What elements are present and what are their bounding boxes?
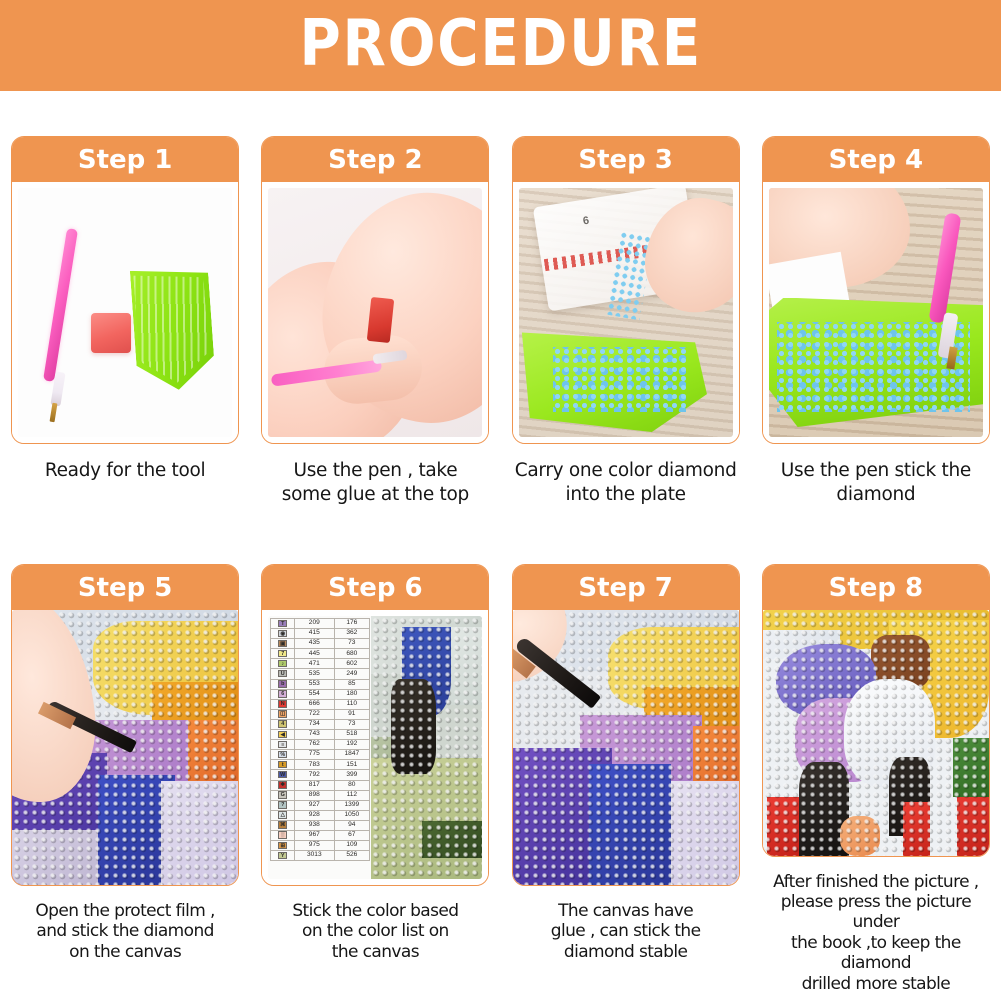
color-swatch: b	[278, 680, 287, 688]
step-2-caption: Use the pen , take some glue at the top	[257, 459, 493, 508]
step-5-photo-canvas	[12, 610, 238, 885]
color-list-row: ≡762192	[271, 740, 370, 750]
color-code-cell: 535	[295, 669, 334, 679]
wax-block-shape	[367, 296, 394, 342]
step-1-title: Step 1	[78, 147, 173, 173]
step-card-4[interactable]: Step 4	[762, 136, 990, 444]
pen-tip-icon	[49, 403, 57, 423]
step-4-header: Step 4	[763, 137, 989, 182]
color-swatch: 6	[278, 690, 287, 698]
color-code-cell: 792	[295, 770, 334, 780]
color-symbol-cell: ⊞	[271, 841, 295, 851]
color-swatch: ≡	[278, 741, 287, 749]
step-2-caption-line-2: some glue at the top	[257, 483, 493, 507]
color-list-row: ◫72291	[271, 709, 370, 719]
step-8-caption-line-1: After finished the picture ,	[758, 872, 994, 892]
color-code-cell: 209	[295, 619, 334, 629]
color-count-cell: 192	[334, 740, 370, 750]
step-3-header: Step 3	[513, 137, 739, 182]
color-count-cell: 85	[334, 679, 370, 689]
color-code-cell: 3013	[295, 851, 334, 861]
color-list-row: G898112	[271, 790, 370, 800]
step-8-title: Step 8	[829, 575, 924, 601]
color-count-cell: 91	[334, 709, 370, 719]
step-6-header: Step 6	[262, 565, 488, 610]
step-card-3[interactable]: Step 3 6	[512, 136, 740, 444]
color-swatch: ▣	[278, 640, 287, 648]
color-symbol-cell: ░	[271, 830, 295, 840]
color-count-cell: 94	[334, 820, 370, 830]
color-count-cell: 680	[334, 649, 370, 659]
color-swatch: △	[278, 811, 287, 819]
step-6-caption-line-1: Stick the color based	[257, 901, 493, 921]
color-swatch: ❖	[278, 781, 287, 789]
color-count-cell: 73	[334, 639, 370, 649]
step-6-caption-line-3: the canvas	[257, 942, 493, 962]
color-count-cell: 399	[334, 770, 370, 780]
color-count-cell: 1847	[334, 750, 370, 760]
color-code-cell: 783	[295, 760, 334, 770]
color-code-cell: 967	[295, 830, 334, 840]
step-7-title: Step 7	[578, 575, 673, 601]
color-count-cell: 67	[334, 830, 370, 840]
wax-block-icon	[91, 313, 131, 353]
step-8-body	[763, 610, 989, 856]
color-swatch: Y	[278, 852, 287, 860]
color-code-cell: 415	[295, 629, 334, 639]
color-swatch: 7	[278, 650, 287, 658]
color-code-cell: 927	[295, 800, 334, 810]
color-symbol-cell: T	[271, 619, 295, 629]
step-5-header: Step 5	[12, 565, 238, 610]
step-card-7[interactable]: Step 7	[512, 564, 740, 886]
color-list-row: 6554180	[271, 689, 370, 699]
color-swatch: t	[278, 761, 287, 769]
procedure-infographic: PROCEDURE Step 1	[0, 0, 1001, 1001]
step-6-body: T209176◉415362▣435737445680♪471602U53524…	[262, 610, 488, 885]
blue-diamonds-in-plate	[553, 347, 686, 412]
step-8-photo-finished	[763, 610, 989, 856]
step-cell-5: Step 5	[0, 564, 250, 994]
color-count-cell: 73	[334, 719, 370, 729]
color-swatch: W	[278, 771, 287, 779]
step-8-caption: After finished the picture , please pres…	[758, 872, 994, 994]
step-6-title: Step 6	[328, 575, 423, 601]
step-card-5[interactable]: Step 5	[11, 564, 239, 886]
step-3-caption: Carry one color diamond into the plate	[508, 459, 744, 508]
color-symbol-cell: ▣	[271, 639, 295, 649]
partial-canvas	[371, 616, 482, 879]
step-3-title: Step 3	[578, 147, 673, 173]
bag-number-label: 6	[582, 215, 590, 228]
step-5-caption-line-1: Open the protect film ,	[7, 901, 243, 921]
color-list-row: ?9271399	[271, 800, 370, 810]
step-7-body	[513, 610, 739, 885]
color-count-cell: 109	[334, 841, 370, 851]
color-list-body: T209176◉415362▣435737445680♪471602U53524…	[271, 619, 370, 861]
color-code-cell: 928	[295, 810, 334, 820]
step-card-6[interactable]: Step 6 T209176◉415362▣435737445680♪47160…	[261, 564, 489, 886]
color-list-row: 7445680	[271, 649, 370, 659]
color-code-cell: 666	[295, 699, 334, 709]
diamond-bead-texture	[763, 610, 989, 856]
color-list-row: 473473	[271, 719, 370, 729]
color-list-table: T209176◉415362▣435737445680♪471602U53524…	[270, 618, 370, 861]
step-5-caption: Open the protect film , and stick the di…	[7, 901, 243, 962]
color-symbol-cell: 6	[271, 689, 295, 699]
step-2-header: Step 2	[262, 137, 488, 182]
step-2-caption-line-1: Use the pen , take	[257, 459, 493, 483]
step-cell-3: Step 3 6	[501, 136, 751, 541]
color-list-row: ◉415362	[271, 629, 370, 639]
color-list-row: W792399	[271, 770, 370, 780]
color-count-cell: 112	[334, 790, 370, 800]
color-symbol-cell: ♪	[271, 659, 295, 669]
step-8-caption-line-3: the book ,to keep the diamond	[758, 933, 994, 974]
color-list-row: Y3013526	[271, 851, 370, 861]
step-card-1[interactable]: Step 1	[11, 136, 239, 444]
step-7-caption-line-3: diamond stable	[508, 942, 744, 962]
step-cell-2: Step 2 Use the pen , ta	[250, 136, 500, 541]
step-1-caption: Ready for the tool	[7, 459, 243, 483]
color-symbol-cell: G	[271, 790, 295, 800]
step-7-caption-line-2: glue , can stick the	[508, 921, 744, 941]
step-3-caption-line-2: into the plate	[508, 483, 744, 507]
step-cell-1: Step 1 Ready for the to	[0, 136, 250, 541]
color-list-sheet: T209176◉415362▣435737445680♪471602U53524…	[268, 616, 371, 879]
step-5-title: Step 5	[78, 575, 173, 601]
color-list-row: ❖81780	[271, 780, 370, 790]
color-code-cell: 762	[295, 740, 334, 750]
color-swatch: ◫	[278, 710, 287, 718]
color-list-row: △9281050	[271, 810, 370, 820]
color-count-cell: 249	[334, 669, 370, 679]
color-symbol-cell: ?	[271, 800, 295, 810]
color-symbol-cell: b	[271, 679, 295, 689]
step-1-header: Step 1	[12, 137, 238, 182]
step-3-body: 6	[513, 182, 739, 443]
color-count-cell: 1050	[334, 810, 370, 820]
color-list-row: T209176	[271, 619, 370, 629]
color-code-cell: 445	[295, 649, 334, 659]
color-swatch: N	[278, 700, 287, 708]
color-count-cell: 602	[334, 659, 370, 669]
color-symbol-cell: 7	[271, 649, 295, 659]
step-6-photo-colorlist: T209176◉415362▣435737445680♪471602U53524…	[268, 616, 482, 879]
step-8-caption-line-2: please press the picture under	[758, 892, 994, 933]
step-1-body	[12, 182, 238, 443]
color-swatch: G	[278, 791, 287, 799]
color-count-cell: 151	[334, 760, 370, 770]
color-code-cell: 743	[295, 730, 334, 740]
color-list-row: ░96767	[271, 830, 370, 840]
step-7-photo-canvas	[513, 610, 739, 885]
step-7-header: Step 7	[513, 565, 739, 610]
color-symbol-cell: %	[271, 750, 295, 760]
color-symbol-cell: W	[271, 770, 295, 780]
color-swatch: ♪	[278, 660, 287, 668]
color-code-cell: 553	[295, 679, 334, 689]
step-4-caption-line-2: diamond	[758, 483, 994, 507]
color-swatch: U	[278, 670, 287, 678]
color-count-cell: 110	[334, 699, 370, 709]
color-count-cell: 180	[334, 689, 370, 699]
step-cell-4: Step 4	[751, 136, 1001, 541]
step-card-2[interactable]: Step 2	[261, 136, 489, 444]
color-symbol-cell: △	[271, 810, 295, 820]
step-8-caption-line-4: drilled more stable	[758, 974, 994, 994]
color-count-cell: 526	[334, 851, 370, 861]
color-list-row: ♪471602	[271, 659, 370, 669]
color-count-cell: 362	[334, 629, 370, 639]
step-cell-6: Step 6 T209176◉415362▣435737445680♪47160…	[250, 564, 500, 994]
step-5-caption-line-3: on the canvas	[7, 942, 243, 962]
color-list-row: N666110	[271, 699, 370, 709]
step-7-caption: The canvas have glue , can stick the dia…	[508, 901, 744, 962]
color-code-cell: 898	[295, 790, 334, 800]
color-swatch: ⌘	[278, 821, 287, 829]
drill-pen-icon	[42, 228, 77, 382]
color-symbol-cell: N	[271, 699, 295, 709]
step-5-caption-line-2: and stick the diamond	[7, 921, 243, 941]
color-list-row: %7751847	[271, 750, 370, 760]
color-swatch: ◉	[278, 630, 287, 638]
color-code-cell: 734	[295, 719, 334, 729]
color-swatch: T	[278, 620, 287, 628]
color-symbol-cell: 4	[271, 719, 295, 729]
step-cell-8: Step 8	[751, 564, 1001, 994]
color-symbol-cell: ⌘	[271, 820, 295, 830]
steps-row-2: Step 5	[0, 564, 1001, 994]
color-symbol-cell: U	[271, 669, 295, 679]
color-code-cell: 938	[295, 820, 334, 830]
color-list-row: U535249	[271, 669, 370, 679]
color-swatch: ?	[278, 801, 287, 809]
color-swatch: %	[278, 751, 287, 759]
color-symbol-cell: ◀	[271, 730, 295, 740]
color-list-row: ▣43573	[271, 639, 370, 649]
step-card-8[interactable]: Step 8	[762, 564, 990, 857]
color-code-cell: 435	[295, 639, 334, 649]
color-count-cell: 176	[334, 619, 370, 629]
color-code-cell: 817	[295, 780, 334, 790]
color-code-cell: 775	[295, 750, 334, 760]
color-list-row: t783151	[271, 760, 370, 770]
steps-grid: Step 1 Ready for the to	[0, 91, 1001, 1001]
diamond-bead-texture	[371, 616, 482, 879]
page-header-banner: PROCEDURE	[0, 0, 1001, 91]
color-symbol-cell: ≡	[271, 740, 295, 750]
step-1-caption-line-1: Ready for the tool	[7, 459, 243, 483]
color-count-cell: 518	[334, 730, 370, 740]
color-code-cell: 471	[295, 659, 334, 669]
step-5-body	[12, 610, 238, 885]
step-3-caption-line-1: Carry one color diamond	[508, 459, 744, 483]
color-swatch: 4	[278, 720, 287, 728]
step-7-caption-line-1: The canvas have	[508, 901, 744, 921]
step-2-photo-hands	[268, 188, 482, 437]
color-code-cell: 554	[295, 689, 334, 699]
color-swatch: ⊞	[278, 842, 287, 850]
step-2-title: Step 2	[328, 147, 423, 173]
step-4-body	[763, 182, 989, 443]
step-3-photo-pour: 6	[519, 188, 733, 437]
color-list-row: ◀743518	[271, 730, 370, 740]
steps-row-1: Step 1 Ready for the to	[0, 136, 1001, 541]
step-4-title: Step 4	[829, 147, 924, 173]
color-list-row: ⊞975109	[271, 841, 370, 851]
color-code-cell: 975	[295, 841, 334, 851]
step-2-body	[262, 182, 488, 443]
step-cell-7: Step 7	[501, 564, 751, 994]
step-6-caption: Stick the color based on the color list …	[257, 901, 493, 962]
color-swatch: ◀	[278, 731, 287, 739]
page-title: PROCEDURE	[299, 12, 701, 80]
step-6-caption-line-2: on the color list on	[257, 921, 493, 941]
step-4-caption: Use the pen stick the diamond	[758, 459, 994, 508]
color-symbol-cell: t	[271, 760, 295, 770]
step-8-header: Step 8	[763, 565, 989, 610]
color-count-cell: 80	[334, 780, 370, 790]
color-symbol-cell: ❖	[271, 780, 295, 790]
step-1-photo-tools	[18, 188, 232, 437]
color-symbol-cell: Y	[271, 851, 295, 861]
color-symbol-cell: ◫	[271, 709, 295, 719]
color-code-cell: 722	[295, 709, 334, 719]
color-list-row: b55385	[271, 679, 370, 689]
color-list-row: ⌘93894	[271, 820, 370, 830]
color-symbol-cell: ◉	[271, 629, 295, 639]
color-count-cell: 1399	[334, 800, 370, 810]
step-4-photo-tray	[769, 188, 983, 437]
color-swatch: ░	[278, 831, 287, 839]
step-4-caption-line-1: Use the pen stick the	[758, 459, 994, 483]
